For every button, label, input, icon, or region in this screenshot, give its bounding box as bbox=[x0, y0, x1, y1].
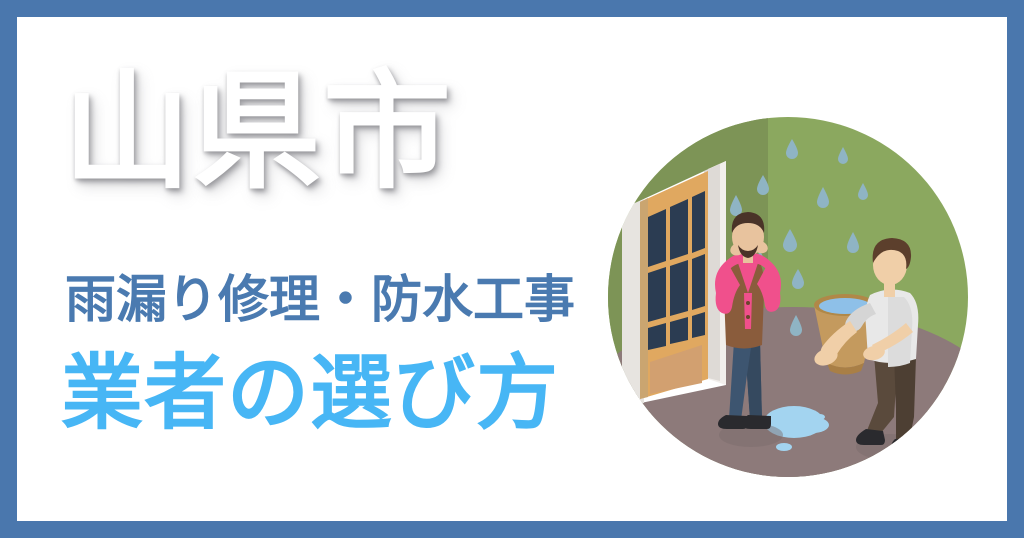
text-block: 山県市 雨漏り修理・防水工事 業者の選び方 bbox=[17, 17, 617, 521]
door-slab-shade bbox=[640, 198, 648, 399]
door-glass-panes bbox=[648, 191, 705, 350]
wooden-door bbox=[622, 161, 726, 407]
left-person-shoe-2 bbox=[742, 415, 771, 429]
cardigan-button-1 bbox=[746, 301, 750, 305]
cardigan-button-2 bbox=[746, 315, 750, 319]
right-person-shoe-2 bbox=[891, 438, 919, 452]
left-person-shirt-strip bbox=[744, 293, 752, 329]
subtitle-service: 雨漏り修理・防水工事 bbox=[65, 275, 575, 326]
banner-inner: 山県市 雨漏り修理・防水工事 業者の選び方 bbox=[17, 17, 1007, 521]
page-title-city: 山県市 bbox=[63, 69, 453, 197]
illustration-roof-leak bbox=[608, 117, 968, 477]
right-person-leg-front bbox=[894, 355, 916, 447]
headline-how-to-choose: 業者の選び方 bbox=[61, 353, 559, 435]
banner-frame: 山県市 雨漏り修理・防水工事 業者の選び方 bbox=[0, 0, 1024, 538]
